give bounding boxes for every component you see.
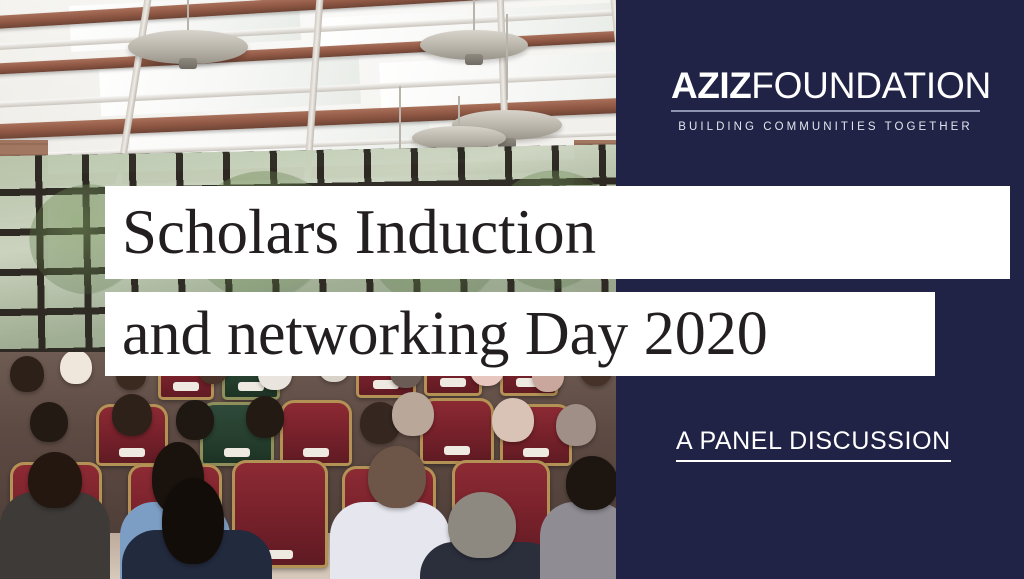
- subtitle-panel-discussion: A PANEL DISCUSSION: [676, 427, 951, 462]
- attendee-head: [368, 446, 426, 508]
- chair-pad: [224, 448, 250, 457]
- lamp-hub: [465, 54, 483, 65]
- title-band-line-2: and networking Day 2020: [105, 292, 935, 376]
- title-line-1: Scholars Induction: [122, 201, 596, 264]
- chair-pad: [440, 378, 466, 387]
- attendee-head: [176, 400, 214, 440]
- title-line-2: and networking Day 2020: [122, 303, 768, 365]
- audience-seating: [0, 352, 616, 579]
- attendee-head: [556, 404, 596, 446]
- attendee-head: [448, 492, 516, 558]
- lamp-hub: [179, 58, 197, 69]
- title-band-line-1: Scholars Induction: [105, 186, 1010, 279]
- aziz-foundation-logo: AZIZFOUNDATION BUILDING COMMUNITIES TOGE…: [671, 67, 980, 133]
- lamp-cord: [506, 14, 508, 100]
- attendee-head: [10, 356, 44, 392]
- attendee-head: [162, 478, 224, 564]
- event-poster: AZIZFOUNDATION BUILDING COMMUNITIES TOGE…: [0, 0, 1024, 579]
- attendee-head: [246, 396, 284, 438]
- chair-pad: [523, 448, 549, 457]
- attendee-head: [566, 456, 616, 510]
- chair-pad: [303, 448, 329, 457]
- logo-wordmark-bold: AZIZ: [671, 65, 751, 106]
- lamp-cord: [399, 86, 401, 150]
- chair-pad: [173, 382, 199, 391]
- logo-wordmark-light: FOUNDATION: [751, 65, 991, 106]
- event-photo: [0, 0, 616, 579]
- attendee-body: [540, 502, 616, 579]
- logo-wordmark: AZIZFOUNDATION: [671, 67, 980, 105]
- chair-pad: [119, 448, 145, 457]
- chair: [280, 400, 352, 466]
- chair-pad: [444, 446, 470, 455]
- attendee-head: [492, 398, 534, 442]
- attendee-head: [392, 392, 434, 436]
- attendee-head: [112, 394, 152, 436]
- logo-divider-rule: [671, 110, 980, 112]
- attendee-head: [28, 452, 82, 508]
- attendee-head: [60, 352, 92, 384]
- logo-tagline: BUILDING COMMUNITIES TOGETHER: [671, 121, 980, 133]
- attendee-head: [30, 402, 68, 442]
